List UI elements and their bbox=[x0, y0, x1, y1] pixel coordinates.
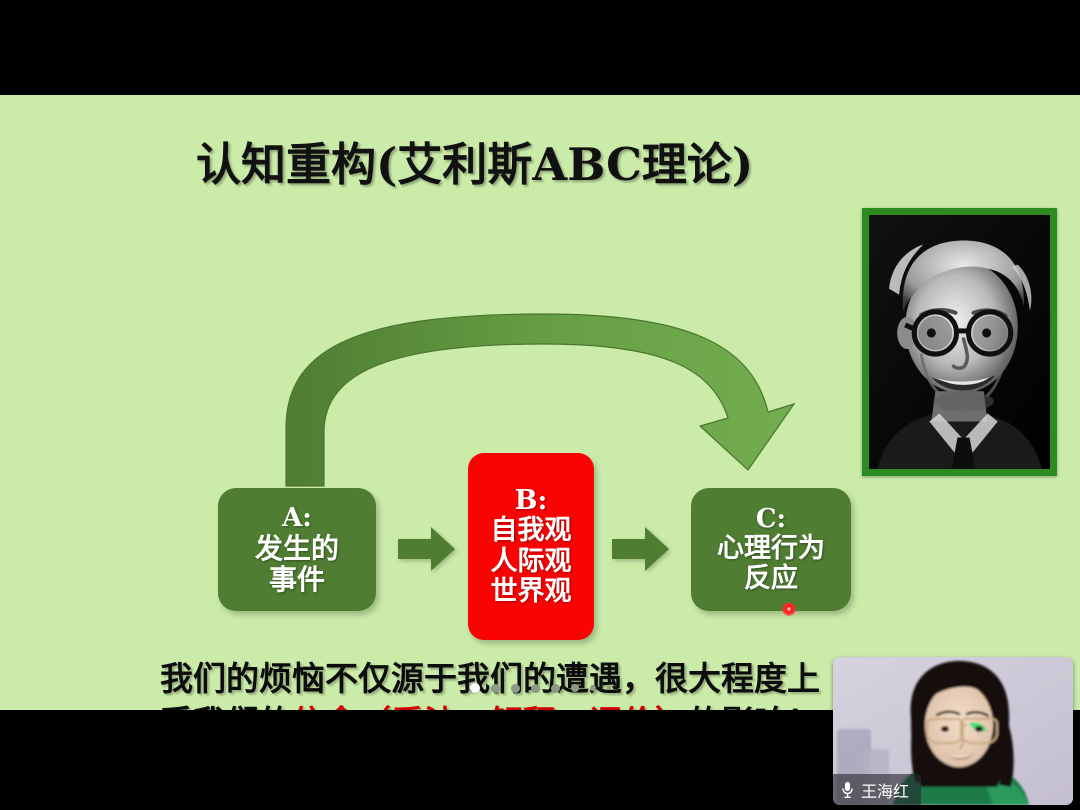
participant-video-tile[interactable]: 王海红 bbox=[833, 657, 1073, 805]
microphone-icon bbox=[841, 781, 854, 799]
slide-progress-dot-3[interactable] bbox=[511, 684, 520, 693]
flow-box-b-line-3: 世界观 bbox=[491, 577, 572, 607]
arrow-right-icon-a-to-b bbox=[398, 525, 456, 573]
flow-box-b-label: B: bbox=[515, 486, 548, 516]
slide-progress-dot-6[interactable] bbox=[571, 684, 579, 692]
flow-box-b-line-1: 自我观 bbox=[491, 516, 572, 546]
slide-progress-dot-7[interactable] bbox=[590, 685, 596, 691]
participant-name-label: 王海红 bbox=[861, 778, 909, 802]
slide-progress-dot-2[interactable] bbox=[491, 684, 500, 693]
laser-pointer-dot bbox=[782, 602, 796, 616]
page-title: 认知重构(艾利斯ABC理论) bbox=[196, 128, 753, 193]
caption-line2-suffix: 的影响！ bbox=[688, 703, 820, 710]
participant-name-badge: 王海红 bbox=[833, 774, 921, 805]
caption-line2-prefix: 受我们的 bbox=[160, 703, 292, 710]
slide-progress-dot-5[interactable] bbox=[551, 684, 560, 693]
slide-progress-dots[interactable] bbox=[470, 680, 610, 696]
flow-box-a-line-2: 事件 bbox=[269, 564, 325, 595]
caption-line2-highlight: 信念（看法、解释、评价） bbox=[292, 703, 688, 710]
flow-box-b: B: 自我观 人际观 世界观 bbox=[468, 453, 594, 640]
arrow-right-icon-b-to-c bbox=[612, 525, 670, 573]
flow-box-a-line-1: 发生的 bbox=[255, 533, 339, 564]
slide-progress-dot-1[interactable] bbox=[470, 683, 480, 693]
flow-box-c-line-1: 心理行为 bbox=[717, 534, 825, 564]
flow-box-b-line-2: 人际观 bbox=[491, 547, 572, 577]
portrait-albert-ellis-photo bbox=[869, 215, 1050, 469]
portrait-frame bbox=[862, 208, 1057, 476]
screen-root: 认知重构(艾利斯ABC理论) bbox=[0, 0, 1080, 810]
flow-box-c: C: 心理行为 反应 bbox=[691, 488, 851, 611]
slide-progress-dot-8[interactable] bbox=[607, 686, 611, 690]
slide-progress-dot-4[interactable] bbox=[531, 684, 540, 693]
shared-slide-stage: 认知重构(艾利斯ABC理论) bbox=[0, 95, 1080, 710]
flow-box-c-line-2: 反应 bbox=[744, 564, 798, 594]
flow-box-a: A: 发生的 事件 bbox=[218, 488, 376, 611]
flow-box-c-label: C: bbox=[756, 505, 786, 534]
flow-box-a-label: A: bbox=[282, 504, 312, 533]
